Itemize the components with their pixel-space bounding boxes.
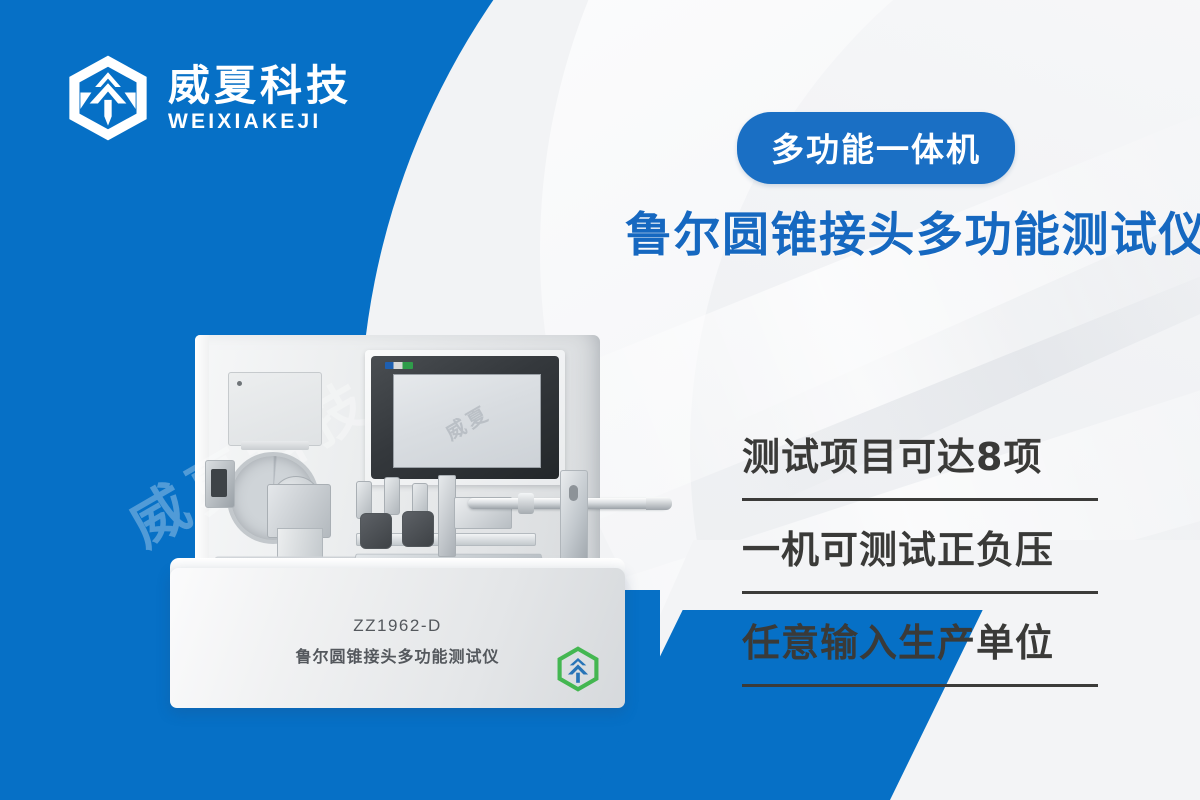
brand-logo: 威夏科技 WEIXIAKEJI xyxy=(62,52,352,144)
hero-badge: 多功能一体机 xyxy=(737,112,1015,184)
hexagon-emblem-green-icon xyxy=(555,646,601,692)
list-item: 测试项目可达8项 xyxy=(742,408,1098,498)
dial-clamp-arm xyxy=(205,460,235,508)
machine-base: ZZ1962-D 鲁尔圆锥接头多功能测试仪 xyxy=(170,568,625,708)
hatch-screw-icon xyxy=(237,381,242,386)
banner-stage: 威夏科技 WEIXIAKEJI 多功能一体机 鲁尔圆锥接头多功能测试仪 测试项目… xyxy=(0,0,1200,800)
page-title: 鲁尔圆锥接头多功能测试仪 xyxy=(625,196,1200,265)
adjustment-knob[interactable] xyxy=(402,511,434,547)
brand-name-cn: 威夏科技 xyxy=(168,64,352,108)
l-bracket-vertical xyxy=(560,470,588,568)
brand-wordmark: 威夏科技 WEIXIAKEJI xyxy=(168,64,352,131)
hmi-screen[interactable]: 威夏 xyxy=(393,374,541,468)
feature-label: 一机可测试正负压 xyxy=(742,519,1054,574)
fixture-post xyxy=(384,477,400,515)
product-image: 威夏科技 威夏 xyxy=(150,330,690,750)
feature-divider xyxy=(742,684,1098,687)
machine-access-hatch xyxy=(228,372,322,446)
shaft-collar xyxy=(518,493,534,514)
rotary-dial-assembly xyxy=(205,450,335,570)
brand-name-en: WEIXIAKEJI xyxy=(168,111,352,132)
list-item: 一机可测试正负压 xyxy=(742,501,1098,591)
feature-label: 测试项目可达8项 xyxy=(742,426,1042,481)
list-item: 任意输入生产单位 xyxy=(742,594,1098,684)
feature-list: 测试项目可达8项 一机可测试正负压 任意输入生产单位 xyxy=(742,408,1098,687)
hmi-touch-panel[interactable]: 威夏 xyxy=(365,350,565,485)
hmi-brand-label-icon xyxy=(385,362,413,369)
hmi-bezel: 威夏 xyxy=(371,356,559,479)
product-model: ZZ1962-D xyxy=(170,616,625,636)
feature-label: 任意输入生产单位 xyxy=(742,612,1054,667)
adjustment-knob[interactable] xyxy=(360,513,392,549)
hexagon-emblem-icon xyxy=(62,52,154,144)
shaft-tip xyxy=(646,497,672,510)
